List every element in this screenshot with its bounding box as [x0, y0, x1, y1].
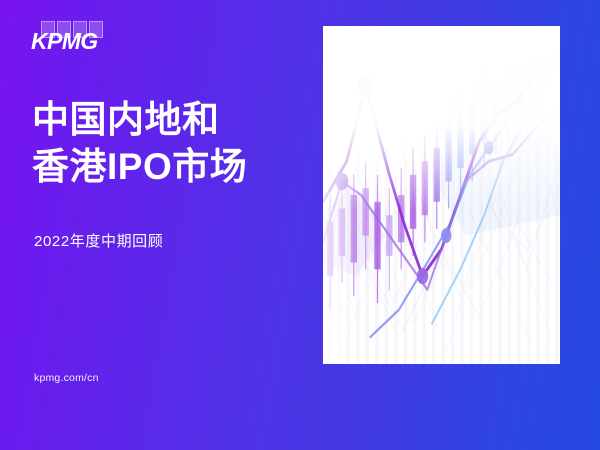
kpmg-wordmark: KPMG — [31, 30, 98, 53]
left-fade — [323, 26, 430, 364]
kpmg-logo: KPMG — [31, 21, 111, 55]
cover-slide: KPMG 中国内地和 香港IPO市场 2022年度中期回顾 kpmg.com/c… — [0, 0, 600, 450]
cover-artwork-panel — [323, 26, 560, 364]
footer-url: kpmg.com/cn — [34, 372, 99, 384]
financial-artwork-chart — [323, 26, 560, 364]
page-title: 中国内地和 香港IPO市场 — [32, 97, 332, 190]
page-subtitle: 2022年度中期回顾 — [34, 230, 163, 251]
